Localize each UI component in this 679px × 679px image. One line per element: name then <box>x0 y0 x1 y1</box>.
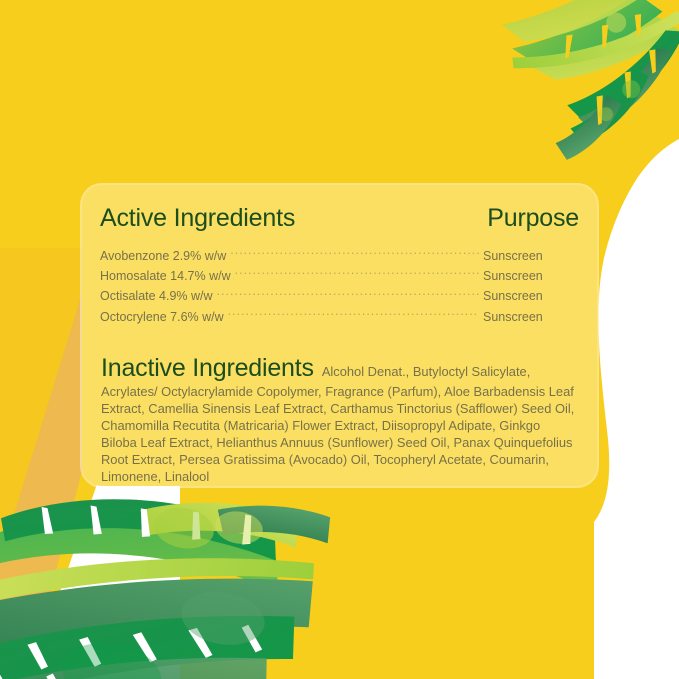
active-ingredients-list: Avobenzone 2.9% w/wSunscreenHomosalate 1… <box>98 244 581 326</box>
ingredient-name: Avobenzone 2.9% w/w <box>100 249 226 265</box>
inactive-paragraph: Inactive IngredientsAlcohol Denat., Buty… <box>101 353 579 486</box>
ingredient-purpose: Sunscreen <box>483 310 579 326</box>
dot-leader <box>235 264 479 280</box>
ingredient-purpose: Sunscreen <box>483 269 579 285</box>
dot-leader <box>228 305 479 321</box>
active-ingredient-row: Avobenzone 2.9% w/wSunscreen <box>100 244 579 264</box>
inactive-ingredients-title: Inactive Ingredients <box>101 354 314 382</box>
ingredient-panel-page: Active Ingredients Purpose Avobenzone 2.… <box>0 0 679 679</box>
dot-leader <box>230 244 479 260</box>
active-ingredient-row: Homosalate 14.7% w/wSunscreen <box>100 264 579 284</box>
inactive-ingredients-block: Inactive IngredientsAlcohol Denat., Buty… <box>98 353 581 486</box>
ingredient-name: Octocrylene 7.6% w/w <box>100 310 224 326</box>
active-ingredient-row: Octisalate 4.9% w/wSunscreen <box>100 285 579 305</box>
purpose-column-header: Purpose <box>487 203 579 233</box>
active-header-row: Active Ingredients Purpose <box>98 203 581 233</box>
ingredient-name: Octisalate 4.9% w/w <box>100 289 213 305</box>
ingredient-name: Homosalate 14.7% w/w <box>100 269 231 285</box>
dot-leader <box>217 285 479 301</box>
ingredients-card: Active Ingredients Purpose Avobenzone 2.… <box>82 185 597 486</box>
ingredient-purpose: Sunscreen <box>483 249 579 265</box>
active-ingredients-title: Active Ingredients <box>100 203 295 233</box>
active-ingredient-row: Octocrylene 7.6% w/wSunscreen <box>100 305 579 325</box>
ingredient-purpose: Sunscreen <box>483 289 579 305</box>
